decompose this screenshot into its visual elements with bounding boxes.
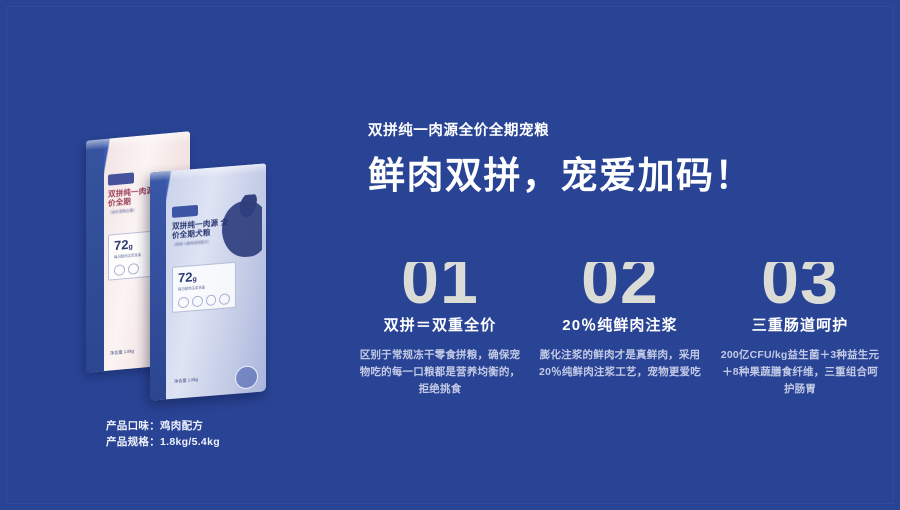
nutrition-icon (128, 263, 139, 275)
bag-side-panel (150, 171, 166, 400)
feature-number: 03 (714, 262, 886, 312)
nutrition-icon (206, 294, 217, 306)
product-bag-front: 双拼纯一肉源 全价全期犬粮 （鸡肉＋鲜肉双拼配方） 72g 每日鲜肉注浆含量 净… (150, 163, 266, 400)
feature-number-badge: 02 (534, 262, 706, 312)
headline-block: 双拼纯一肉源全价全期宠粮 鲜肉双拼，宠爱加码！ (368, 124, 868, 194)
brand-logo-chip (172, 205, 198, 218)
spec-size: 产品规格：1.8kg/5.4kg (106, 434, 220, 450)
page-title: 鲜肉双拼，宠爱加码！ (368, 157, 868, 194)
feature-title: 三重肠道呵护 (714, 318, 886, 335)
bag-nutrition-badge-front: 72g 每日鲜肉注浆含量 (172, 262, 236, 313)
badge-icon-row-front (178, 293, 230, 308)
feature-number: 01 (354, 262, 526, 312)
feature-body: 区别于常规冻干零食拼粮，确保宠物吃的每一口粮都是营养均衡的，拒绝挑食 (354, 347, 526, 399)
feature-number-badge: 03 (714, 262, 886, 312)
feature-number: 02 (534, 262, 706, 312)
eyebrow-text: 双拼纯一肉源全价全期宠粮 (368, 124, 868, 139)
bag-net-weight-front: 净含量 1.8kg (174, 377, 198, 385)
bag-top-fold (86, 131, 190, 150)
feature-body: 膨化注浆的鲜肉才是真鲜肉，采用20％纯鲜肉注浆工艺，宠物更爱吃 (534, 347, 706, 382)
feature-title: 双拼＝双重全价 (354, 318, 526, 335)
spec-flavor: 产品口味：鸡肉配方 (106, 418, 220, 434)
feature-number-badge: 01 (354, 262, 526, 312)
nutrition-icon (192, 295, 203, 307)
nutrition-icon (114, 264, 125, 276)
feature-list: 01 双拼＝双重全价 区别于常规冻干零食拼粮，确保宠物吃的每一口粮都是营养均衡的… (354, 262, 886, 398)
quality-seal-icon (235, 365, 258, 390)
feature-item-02: 02 20％纯鲜肉注浆 膨化注浆的鲜肉才是真鲜肉，采用20％纯鲜肉注浆工艺，宠物… (534, 262, 706, 398)
feature-item-01: 01 双拼＝双重全价 区别于常规冻干零食拼粮，确保宠物吃的每一口粮都是营养均衡的… (354, 262, 526, 398)
feature-title: 20％纯鲜肉注浆 (534, 318, 706, 335)
bag-net-weight-rear: 净含量 1.8kg (110, 348, 134, 356)
brand-logo-chip (108, 172, 134, 185)
feature-item-03: 03 三重肠道呵护 200亿CFU/kg益生菌＋3种益生元＋8种果蔬膳食纤维，三… (714, 262, 886, 398)
nutrition-icon (219, 293, 230, 305)
bag-label-front: 双拼纯一肉源 全价全期犬粮 （鸡肉＋鲜肉双拼配方） (172, 202, 234, 248)
nutrition-icon (178, 297, 189, 309)
product-banner: 双拼纯一肉源 全价全期 （全价宠物主粮） 72g 每日鲜肉注浆含量 净含量 1.… (0, 0, 900, 510)
product-spec: 产品口味：鸡肉配方 产品规格：1.8kg/5.4kg (106, 418, 220, 451)
bag-side-panel (86, 139, 104, 373)
bag-title-front: 双拼纯一肉源 全价全期犬粮 (172, 217, 234, 241)
product-image: 双拼纯一肉源 全价全期 （全价宠物主粮） 72g 每日鲜肉注浆含量 净含量 1.… (72, 128, 312, 388)
feature-body: 200亿CFU/kg益生菌＋3种益生元＋8种果蔬膳食纤维，三重组合呵护肠胃 (714, 347, 886, 399)
